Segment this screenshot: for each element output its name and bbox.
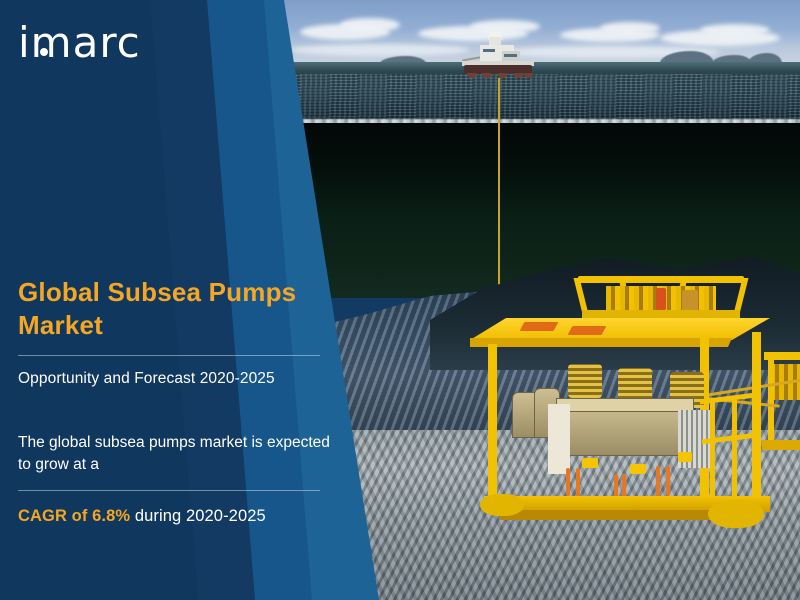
- manifold-hatch: [520, 322, 559, 331]
- report-subtitle: Opportunity and Forecast 2020-2025: [18, 370, 338, 388]
- platform-window: [504, 54, 517, 57]
- cloud: [700, 24, 770, 36]
- flexible-hose: [576, 468, 580, 496]
- subsea-valve: [630, 464, 646, 474]
- manifold-leg: [734, 278, 749, 314]
- flexible-hose: [666, 466, 670, 496]
- cloud: [340, 18, 400, 32]
- cagr-statement: CAGR of 6.8% during 2020-2025: [18, 507, 338, 526]
- manifold-column: [488, 344, 497, 502]
- subsea-valve: [678, 452, 692, 462]
- logo-wordmark: imarc: [18, 22, 141, 64]
- subsea-valve: [582, 458, 598, 468]
- manifold-hatch: [568, 326, 607, 335]
- imarc-logo[interactable]: imarc: [18, 22, 141, 64]
- divider-top: [18, 355, 320, 356]
- report-content: Global Subsea Pumps Market Opportunity a…: [18, 276, 338, 526]
- manifold-deck: [582, 310, 740, 318]
- platform-pontoon: [524, 73, 533, 78]
- offshore-platform: [462, 32, 534, 78]
- manifold-leg: [574, 278, 589, 314]
- cagr-highlight: CAGR of 6.8%: [18, 507, 130, 525]
- flexible-hose: [622, 474, 626, 498]
- report-lead-text: The global subsea pumps market is expect…: [18, 432, 336, 477]
- manifold-suction-foot: [480, 494, 524, 516]
- cloud: [290, 44, 470, 56]
- page-title: Global Subsea Pumps Market: [18, 276, 338, 342]
- cagr-period: during 2020-2025: [130, 507, 266, 525]
- platform-window: [483, 49, 495, 52]
- manifold-canopy-edge: [470, 338, 770, 347]
- platform-pontoon: [514, 73, 523, 78]
- manifold-canister: [682, 290, 698, 312]
- manifold-top-beam: [578, 276, 744, 283]
- control-cabinet: [548, 404, 570, 474]
- manifold-canopy: [470, 318, 770, 340]
- pump-housing: [556, 398, 694, 412]
- flexible-hose: [614, 474, 618, 498]
- flexible-hose: [656, 466, 660, 496]
- marketing-poster: imarc Global Subsea Pumps Market Opportu…: [0, 0, 800, 600]
- flexible-hose: [566, 468, 570, 496]
- manifold-handrail: [732, 400, 737, 502]
- subsea-pump-manifold: [470, 318, 800, 548]
- riser-cable: [498, 78, 500, 310]
- pump-cooler: [568, 364, 602, 398]
- pump-cooler: [618, 368, 652, 402]
- manifold-canister: [656, 288, 666, 310]
- platform-pontoon: [467, 73, 476, 78]
- manifold-suction-foot: [708, 500, 764, 528]
- manifold-handrail: [710, 402, 715, 502]
- cloud: [600, 22, 660, 34]
- platform-pontoon: [482, 73, 491, 78]
- manifold-column: [752, 332, 761, 512]
- divider-bottom: [18, 490, 320, 491]
